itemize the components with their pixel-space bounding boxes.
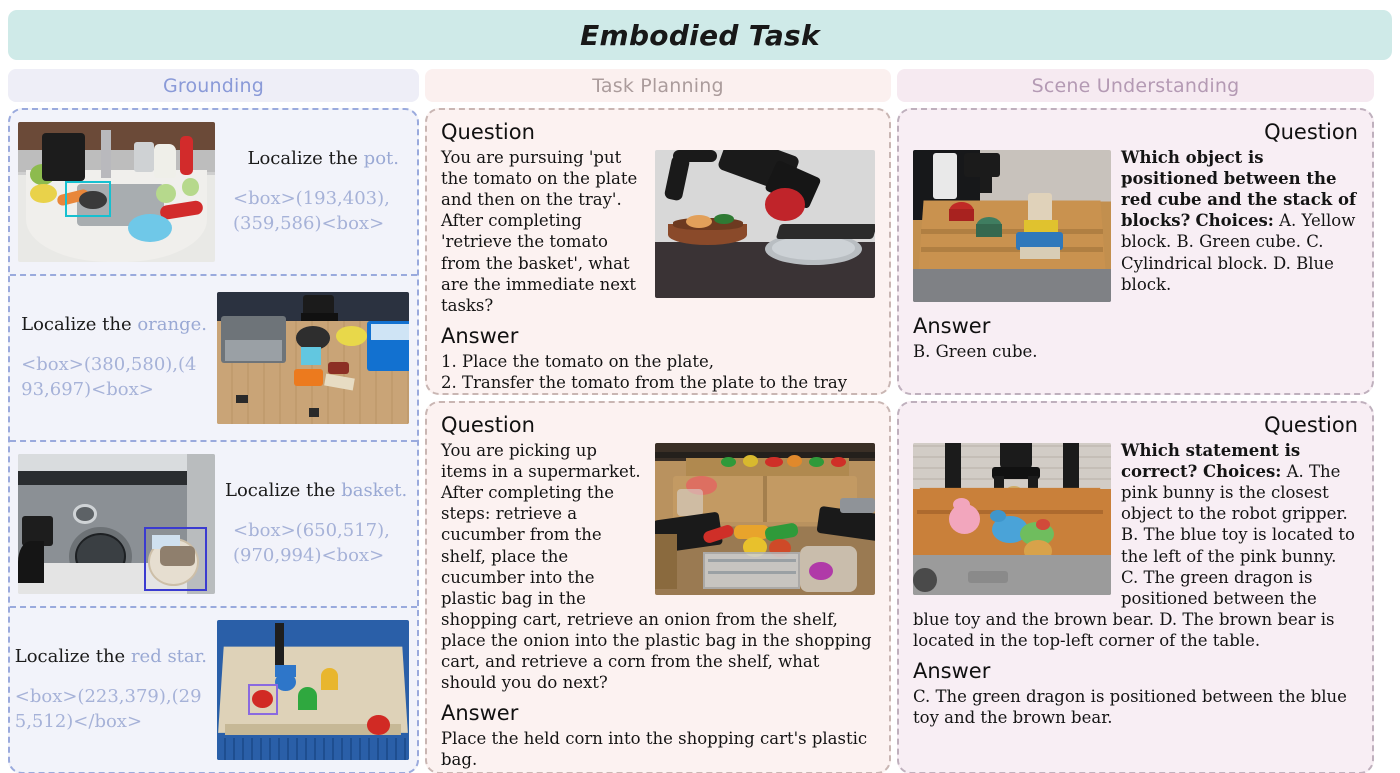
wooden-table-robot-arm-scene [217, 292, 409, 424]
task-planning-answer-2: Place the held corn into the shopping ca… [441, 728, 875, 770]
grounding-item-red-star-box: <box>(223,379),(295,512)</box> [15, 685, 207, 734]
localize-prefix: Localize the [15, 646, 125, 667]
grounding-item-basket-box: <box>(650,517),(970,994)<box> [225, 519, 407, 568]
scene-question-2-bold: Which statement is correct? Choices: [1121, 441, 1300, 481]
grounding-item-pot: Localize the pot. <box>(193,403),(359,58… [10, 110, 417, 274]
question-label: Question [441, 413, 875, 437]
embodied-task-figure: Embodied Task Grounding Task Planning Sc… [0, 0, 1400, 773]
grounding-item-orange-prompt: Localize the orange. [21, 314, 207, 335]
localize-prefix: Localize the [247, 148, 357, 169]
question-label: Question [441, 120, 875, 144]
supermarket-shelf-shopping-cart-scene [655, 443, 875, 595]
question-label: Question [913, 413, 1358, 437]
scene-understanding-card-1: Question [897, 108, 1374, 395]
task-planning-card-1: Question [425, 108, 891, 395]
answer-label: Answer [441, 324, 875, 348]
answer-label: Answer [441, 701, 875, 725]
grounding-item-red-star-text: Localize the red star. <box>(223,379),(2… [8, 646, 217, 734]
answer-label: Answer [913, 314, 1358, 338]
washing-machine-laundry-basket-scene [18, 454, 215, 594]
localize-prefix: Localize the [21, 314, 131, 335]
toy-kitchen-sink-scene [18, 122, 215, 262]
task-planning-card-2: Question [425, 401, 891, 773]
figure-title-bar: Embodied Task [8, 10, 1392, 60]
task-planning-answer-1-line-1: 1. Place the tomato on the plate, [441, 351, 875, 372]
localize-object: pot. [364, 148, 399, 169]
grounding-item-pot-prompt: Localize the pot. [225, 148, 399, 169]
grounding-item-basket-text: Localize the basket. <box>(650,517),(970… [215, 480, 417, 568]
column-header-grounding-label: Grounding [163, 75, 264, 97]
column-header-task-planning: Task Planning [425, 69, 891, 102]
wooden-board-colored-blocks-scene [217, 620, 409, 760]
column-header-scene-understanding-label: Scene Understanding [1032, 75, 1240, 97]
grounding-item-orange: Localize the orange. <box>(380,580),(493… [10, 274, 417, 440]
column-header-task-planning-label: Task Planning [592, 75, 724, 97]
scene-understanding-column: Question [897, 108, 1374, 773]
grounding-item-pot-box: <box>(193,403),(359,586)<box> [225, 187, 399, 236]
grounding-column: Localize the pot. <box>(193,403),(359,58… [8, 108, 419, 773]
column-header-grounding: Grounding [8, 69, 419, 102]
grounding-item-orange-text: Localize the orange. <box>(380,580),(493… [11, 314, 217, 402]
localize-object: basket. [341, 480, 407, 501]
task-planning-column: Question [425, 108, 891, 773]
grounding-panel: Localize the pot. <box>(193,403),(359,58… [8, 108, 419, 773]
scene-understanding-answer-1: B. Green cube. [913, 341, 1358, 362]
localize-object: orange. [137, 314, 207, 335]
grounding-item-basket: Localize the basket. <box>(650,517),(970… [10, 440, 417, 606]
page-title: Embodied Task [580, 19, 820, 52]
localize-prefix: Localize the [225, 480, 335, 501]
question-label: Question [913, 120, 1358, 144]
answer-label: Answer [913, 659, 1358, 683]
scene-understanding-answer-2: C. The green dragon is positioned betwee… [913, 686, 1358, 728]
task-planning-answer-1-line-2: 2. Transfer the tomato from the plate to… [441, 372, 875, 393]
grounding-item-pot-text: Localize the pot. <box>(193,403),(359,58… [215, 148, 409, 236]
wooden-table-plush-toys-scene [913, 443, 1111, 595]
column-header-scene-understanding: Scene Understanding [897, 69, 1374, 102]
robot-gripper-tomato-plate-scene [655, 150, 875, 298]
grounding-item-basket-prompt: Localize the basket. [225, 480, 407, 501]
grounding-item-red-star: Localize the red star. <box>(223,379),(2… [10, 606, 417, 772]
column-header-strip: Grounding Task Planning Scene Understand… [8, 69, 1392, 102]
grounding-item-red-star-prompt: Localize the red star. [15, 646, 207, 667]
scene-understanding-card-2: Question [897, 401, 1374, 773]
columns-container: Localize the pot. <box>(193,403),(359,58… [8, 108, 1392, 773]
grounding-item-orange-box: <box>(380,580),(493,697)<box> [21, 353, 207, 402]
scene-choices-label-1: Choices: [1196, 211, 1274, 230]
localize-object: red star. [131, 646, 207, 667]
wooden-table-stacked-blocks-scene [913, 150, 1111, 302]
